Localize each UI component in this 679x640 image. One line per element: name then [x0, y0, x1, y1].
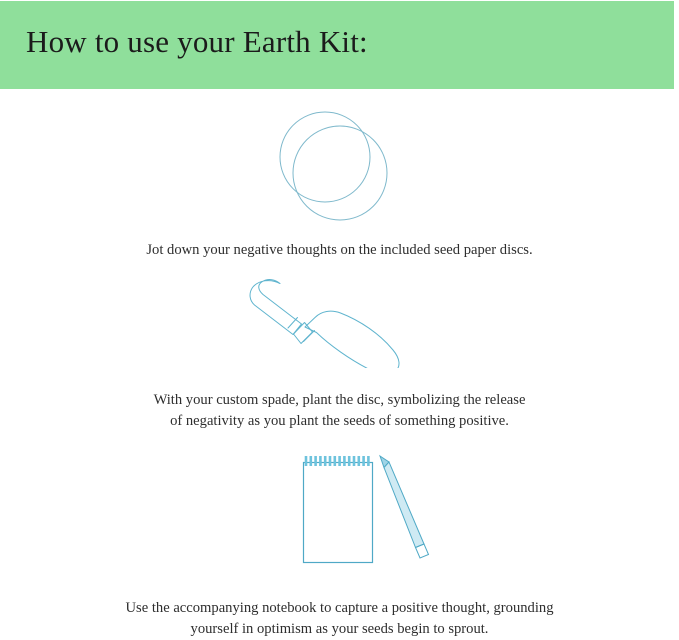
disc-back-circle-icon	[280, 112, 370, 202]
notebook-spiral-binding-icon	[306, 456, 368, 466]
step-caption-discs: Jot down your negative thoughts on the i…	[60, 240, 620, 261]
caption-line: Jot down your negative thoughts on the i…	[60, 240, 620, 261]
caption-line: yourself in optimism as your seeds begin…	[60, 619, 620, 640]
step-custom-spade: With your custom spade, plant the disc, …	[0, 272, 679, 432]
caption-line: of negativity as you plant the seeds of …	[60, 411, 620, 432]
seed-paper-discs-illustration	[0, 108, 679, 226]
spade-handle-icon	[250, 280, 301, 335]
pencil-icon	[380, 456, 429, 558]
disc-front-circle-icon	[293, 126, 387, 220]
step-notebook: Use the accompanying notebook to capture…	[0, 448, 679, 640]
page-title: How to use your Earth Kit:	[26, 26, 368, 57]
caption-line: Use the accompanying notebook to capture…	[60, 598, 620, 619]
garden-spade-illustration	[0, 272, 679, 368]
spade-ferrule-icon	[294, 323, 313, 344]
spade-handle-neck-line-icon	[288, 318, 298, 329]
pencil-shaft-icon	[384, 462, 424, 548]
header-band: How to use your Earth Kit:	[0, 1, 674, 89]
spade-blade-icon	[305, 311, 399, 368]
step-caption-spade: With your custom spade, plant the disc, …	[60, 390, 620, 432]
spade-blade-shoulder-line-icon	[304, 331, 315, 342]
step-caption-notebook: Use the accompanying notebook to capture…	[60, 598, 620, 640]
notebook-body-icon	[304, 463, 373, 563]
caption-line: With your custom spade, plant the disc, …	[60, 390, 620, 411]
step-seed-paper-discs: Jot down your negative thoughts on the i…	[0, 108, 679, 261]
notebook-and-pencil-illustration	[0, 448, 679, 568]
